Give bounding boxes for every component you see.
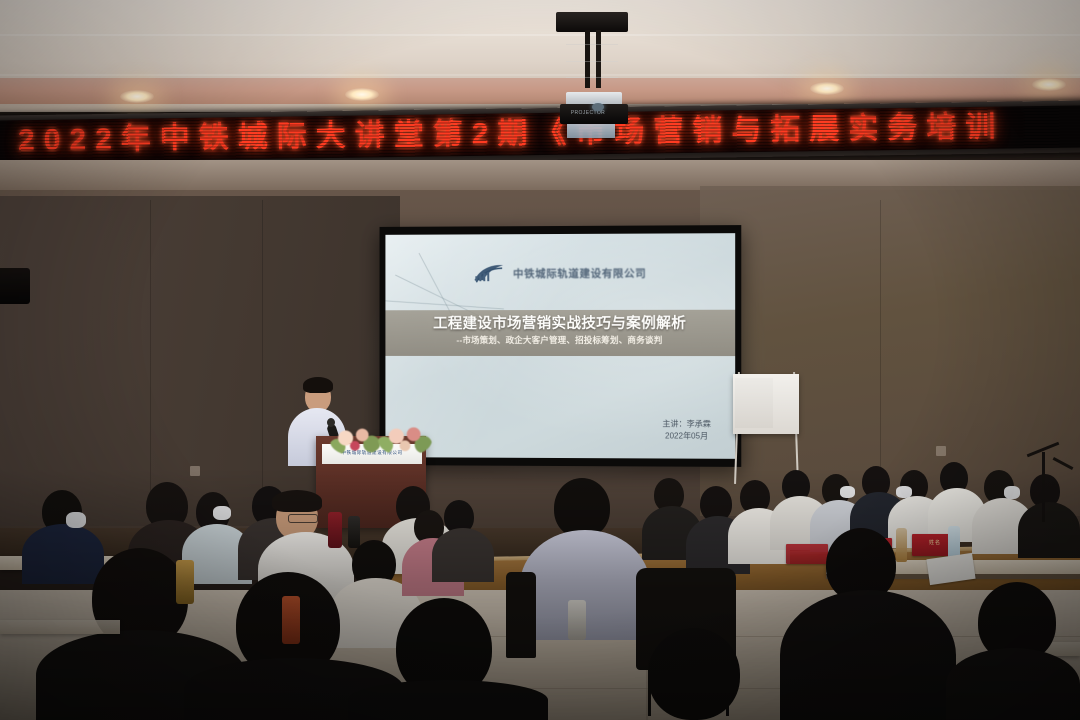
slide-date: 2022年05月	[662, 430, 710, 442]
thermos	[282, 596, 300, 644]
downlight-icon	[120, 90, 154, 103]
led-banner-text: 2022年中铁城际大讲堂第2期《市场营销与拓展实务培训	[18, 107, 1005, 163]
microphone-head-icon	[327, 418, 335, 427]
wall-panel-seam	[880, 200, 881, 500]
drink-bottle	[896, 528, 907, 562]
presenter-hair	[303, 377, 333, 393]
wall-socket	[936, 446, 946, 456]
wall-panel-right	[700, 186, 1080, 516]
flipchart-paper	[735, 378, 773, 428]
attendee-body	[22, 524, 104, 584]
face-mask	[840, 486, 855, 498]
led-banner-screen: 2022年中铁城际大讲堂第2期《市场营销与拓展实务培训	[0, 105, 1080, 162]
face-mask	[896, 486, 912, 498]
thermos	[328, 512, 342, 548]
glasses-icon	[288, 514, 318, 523]
slide-subtitle: --市场策划、政企大客户管理、招投标筹划、商务谈判	[385, 334, 735, 346]
chair	[506, 572, 536, 658]
thermos	[176, 560, 194, 604]
wall-speaker	[0, 268, 30, 304]
flower-arrangement	[378, 424, 432, 456]
projector-label: PROJECTOR	[560, 110, 616, 116]
cup	[568, 600, 586, 640]
projector-cage	[566, 44, 618, 94]
face-mask	[66, 512, 86, 528]
attendee-head	[648, 628, 740, 720]
attendee-head	[554, 478, 610, 538]
wall-socket	[190, 466, 200, 476]
ceiling-seam	[0, 34, 1080, 36]
projector-lens-icon	[592, 103, 604, 111]
ceiling-seam	[0, 74, 1080, 76]
slide-footer: 主讲：李承霖 2022年05月	[662, 418, 710, 442]
photo-scene: 2022年中铁城际大讲堂第2期《市场营销与拓展实务培训 PROJECTOR	[0, 0, 1080, 720]
tripod-stand	[1042, 452, 1045, 522]
company-logo-icon	[472, 262, 506, 284]
table	[0, 620, 120, 634]
face-mask	[213, 506, 231, 520]
wall-panel-seam	[150, 200, 151, 500]
projection-screen-frame: 中铁城际轨道建设有限公司 工程建设市场营销实战技巧与案例解析 --市场策划、政企…	[380, 225, 742, 467]
projector-ceiling-plate	[556, 12, 628, 32]
face-mask	[1004, 486, 1020, 499]
slide-logo-row: 中铁城际轨道建设有限公司	[385, 255, 735, 290]
slide-title: 工程建设市场营销实战技巧与案例解析	[385, 312, 735, 333]
projector-lower-housing	[567, 124, 615, 138]
attendee-hair	[272, 490, 322, 512]
attendee-body	[946, 648, 1080, 720]
flower-arrangement	[330, 426, 382, 456]
thermos	[348, 516, 360, 548]
company-logo-text: 中铁城际轨道建设有限公司	[513, 265, 646, 280]
projection-screen: 中铁城际轨道建设有限公司 工程建设市场营销实战技巧与案例解析 --市场策划、政企…	[385, 233, 735, 459]
slide-presenter: 主讲：李承霖	[662, 418, 710, 430]
presentation-slide: 中铁城际轨道建设有限公司 工程建设市场营销实战技巧与案例解析 --市场策划、政企…	[385, 233, 735, 459]
downlight-icon	[1032, 78, 1066, 91]
wall-panel-seam	[262, 200, 263, 500]
attendee-body	[780, 590, 956, 720]
downlight-icon	[810, 82, 844, 95]
downlight-icon	[345, 88, 379, 101]
attendee-body	[1018, 502, 1080, 558]
name-tent	[786, 544, 828, 564]
ceiling-cove-light	[0, 78, 1080, 104]
attendee-body	[432, 528, 494, 582]
attendee-body	[348, 680, 548, 720]
